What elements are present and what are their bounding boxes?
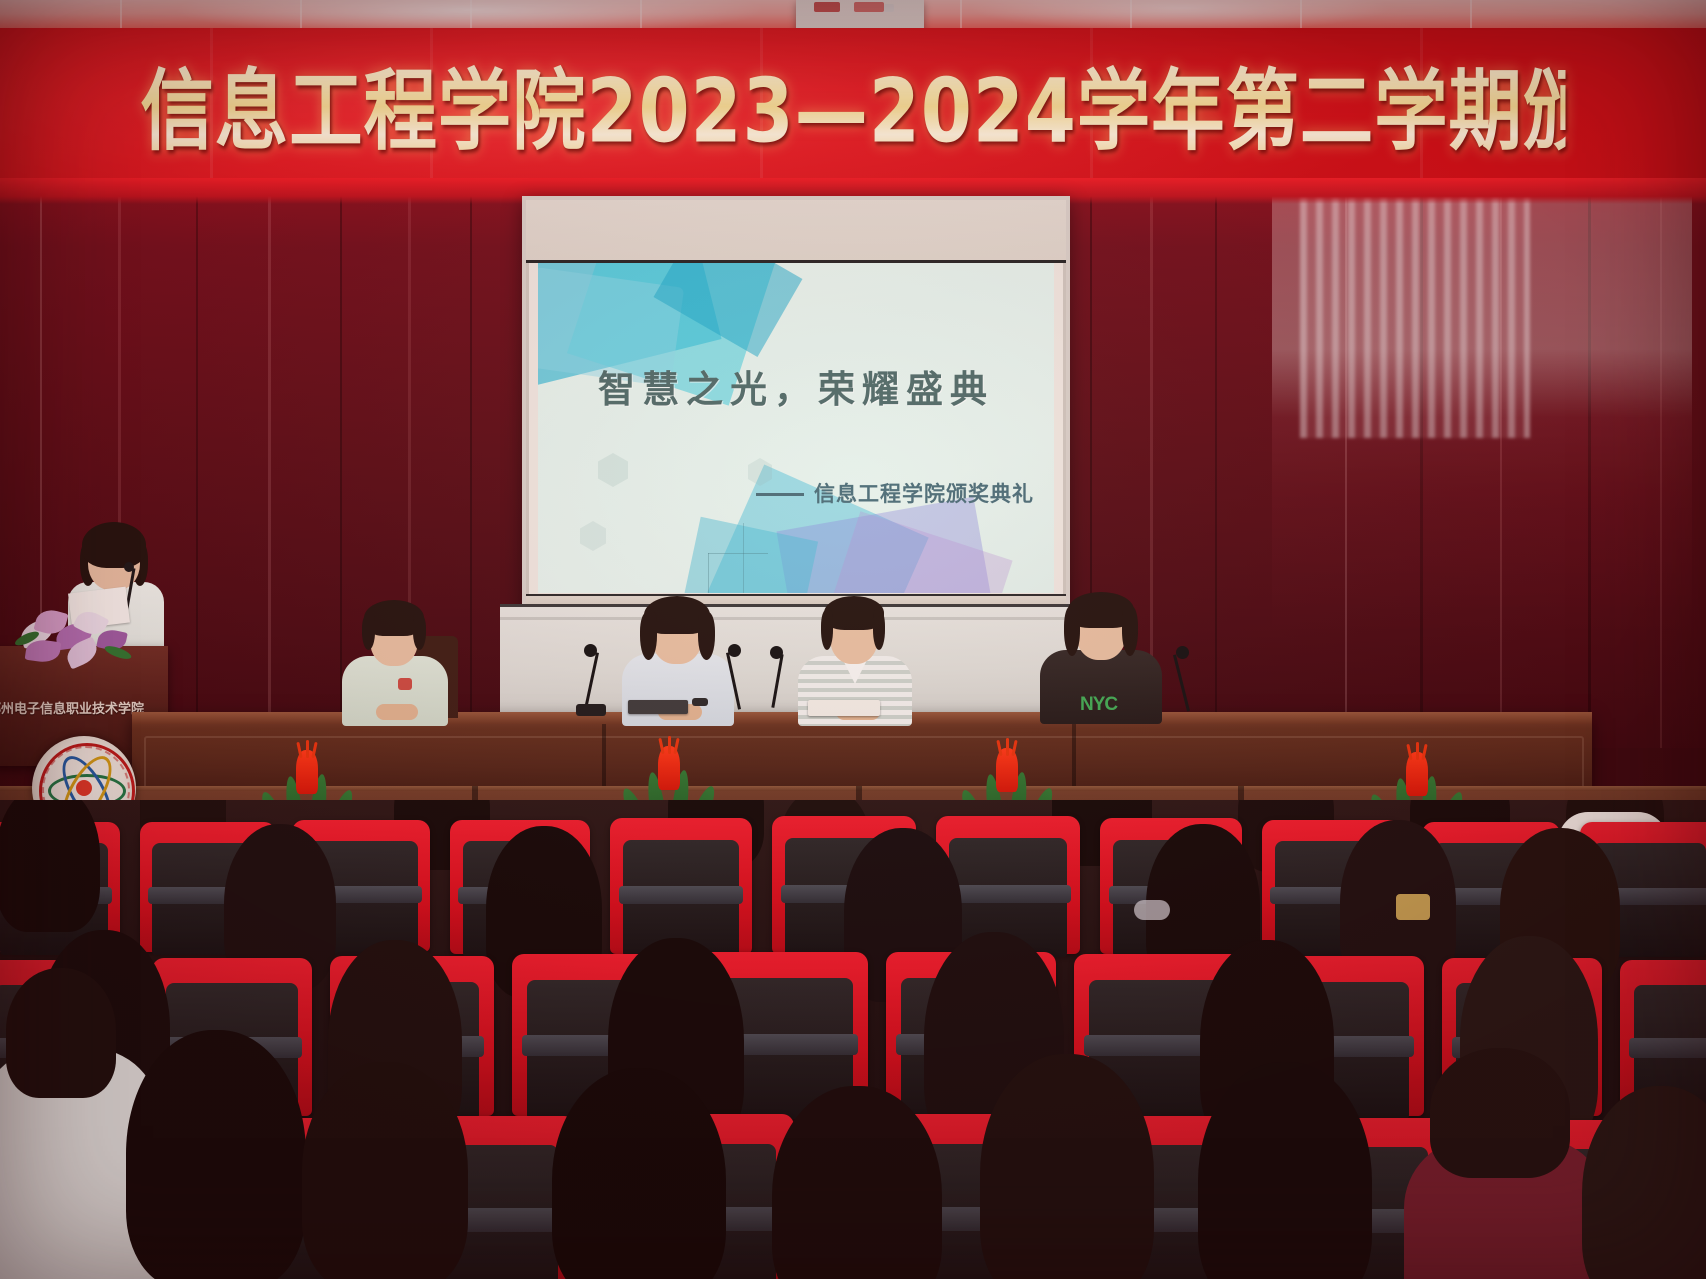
seat[interactable] [610,818,752,954]
hair-clip-icon [1396,894,1430,920]
event-banner: 信息工程学院2023—2024学年第二学期颁奖典礼 [0,28,1706,180]
banner-title: 信息工程学院2023—2024学年第二学期颁奖典礼 [140,41,1565,168]
hexagon-decor-icon [580,521,606,551]
microphone-4 [1166,644,1206,720]
presentation-slide: 智慧之光，荣耀盛典 信息工程学院颁奖典礼 [538,263,1054,593]
eyeglasses-icon [1134,900,1170,920]
podium-flower-arrangement [14,600,142,670]
table-notebook-1 [808,700,880,716]
hexagon-decor-icon [598,453,628,487]
microphone-2 [716,642,756,718]
projection-screen: 智慧之光，荣耀盛典 信息工程学院颁奖典礼 [522,196,1070,616]
audience-area [0,800,1706,1279]
microphone-1 [568,642,608,718]
slide-subtitle-text: 信息工程学院颁奖典礼 [814,482,1034,506]
microphone-3 [756,646,796,720]
slide-subtitle: 信息工程学院颁奖典礼 [756,478,1034,508]
panelist-4: NYC [1028,592,1174,718]
shirt-print-nyc: NYC [1080,694,1122,716]
curtain-light-reflection [1300,188,1530,438]
table-device-1 [628,700,688,714]
auditorium-photo: 信息工程学院2023—2024学年第二学期颁奖典礼 智慧之 [0,0,1706,1279]
em-dash-rule [756,493,804,496]
slide-title: 智慧之光，荣耀盛典 [538,359,1054,413]
panelist-1 [330,600,460,718]
screen-top-bar [526,200,1066,263]
